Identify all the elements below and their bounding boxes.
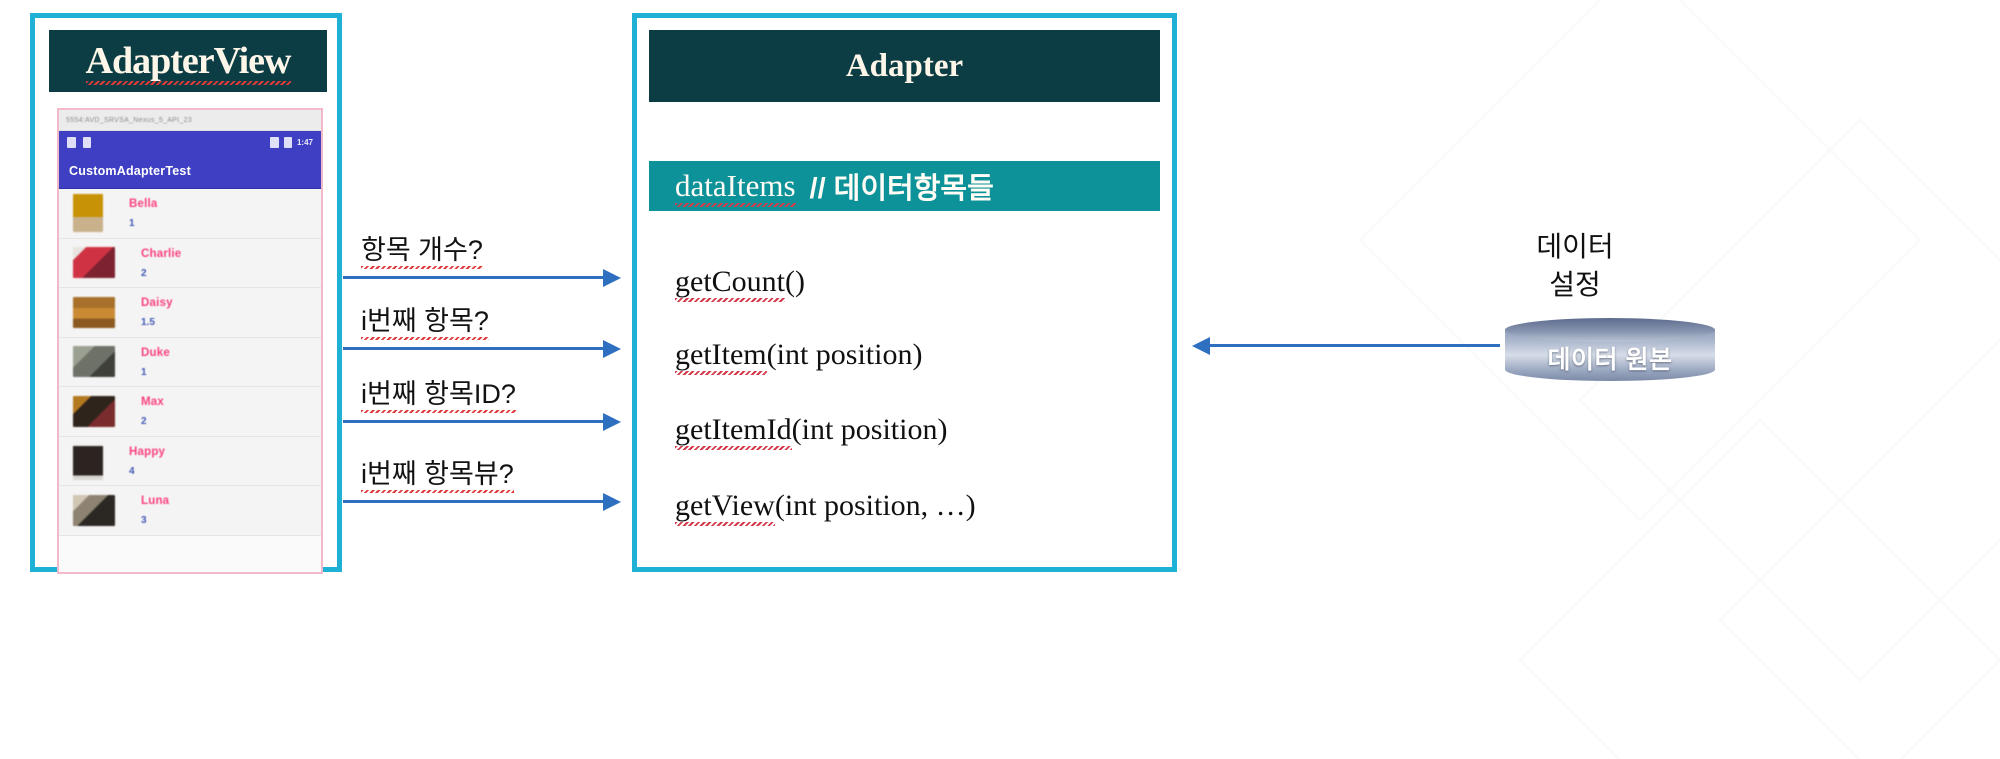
method-name: getItem	[675, 338, 767, 371]
list-item[interactable]: Bella 1	[59, 189, 321, 239]
adapter-title-text: Adapter	[846, 48, 963, 85]
dataitems-name: dataItems	[675, 168, 796, 204]
list-item-name: Max	[141, 395, 164, 409]
list-item-text: Duke 1	[141, 346, 170, 378]
battery-icon	[284, 137, 292, 148]
adapterview-title: AdapterView	[49, 30, 327, 92]
arrow-head-icon	[603, 340, 621, 358]
list-item-name: Duke	[141, 346, 170, 360]
app-bar: CustomAdapterTest	[59, 154, 321, 189]
emulator-window-title: 5554:AVD_SRVSA_Nexus_5_API_23	[66, 117, 192, 124]
list-item-value: 4	[129, 466, 165, 477]
list-item-value: 1	[141, 367, 170, 378]
dataitems-field: dataItems // 데이터항목들	[649, 161, 1160, 211]
clipboard-icon	[83, 137, 91, 148]
list-item-name: Daisy	[141, 296, 173, 310]
method-name: getItemId	[675, 413, 792, 446]
adapterview-title-text: AdapterView	[86, 39, 291, 83]
list-item-value: 3	[141, 515, 169, 526]
list-item-value: 2	[141, 268, 181, 279]
method-get-count: getCount()	[675, 265, 805, 299]
cylinder-top-ellipse	[1505, 318, 1715, 342]
android-status-bar: 1:47	[59, 131, 321, 154]
pet-thumbnail	[73, 247, 115, 278]
pet-thumbnail	[73, 442, 103, 480]
list-item-value: 1	[129, 218, 158, 229]
arrow-line	[343, 276, 608, 279]
method-get-item-id: getItemId(int position)	[675, 413, 947, 447]
cylinder-label: 데이터 원본	[1505, 340, 1715, 376]
method-name: getView	[675, 489, 775, 522]
list-item-text: Happy 4	[129, 445, 165, 477]
arrow-label: 항목 개수?	[361, 228, 483, 267]
list-item-name: Luna	[141, 494, 169, 508]
method-signature: (int position)	[767, 338, 923, 371]
arrow-label: i번째 항목?	[361, 299, 489, 338]
adapterview-panel: AdapterView 5554:AVD_SRVSA_Nexus_5_API_2…	[30, 13, 342, 572]
adapter-title: Adapter	[649, 30, 1160, 102]
adapter-panel: Adapter dataItems // 데이터항목들 getCount() g…	[632, 13, 1177, 572]
app-bar-title: CustomAdapterTest	[69, 164, 191, 178]
list-item-value: 2	[141, 416, 164, 427]
list-item[interactable]: Charlie 2	[59, 239, 321, 289]
method-signature: ()	[785, 265, 805, 298]
datasource-arrow-line	[1210, 344, 1500, 347]
list-item-text: Max 2	[141, 395, 164, 427]
arrow-head-icon	[603, 269, 621, 287]
list-item-text: Daisy 1.5	[141, 296, 173, 328]
list-item[interactable]: Luna 3	[59, 486, 321, 536]
method-signature: (int position, …)	[775, 489, 976, 522]
list-item-name: Bella	[129, 197, 158, 211]
list-item[interactable]: Happy 4	[59, 437, 321, 487]
data-source-cylinder: 데이터 원본	[1505, 318, 1715, 390]
pet-thumbnail	[73, 495, 115, 526]
arrow-line	[343, 420, 608, 423]
list-item-name: Happy	[129, 445, 165, 459]
method-get-view: getView(int position, …)	[675, 489, 976, 523]
pet-thumbnail	[73, 194, 103, 232]
list-item[interactable]: Daisy 1.5	[59, 288, 321, 338]
data-setting-line1: 데이터	[1495, 228, 1655, 266]
data-setting-line2: 설정	[1495, 266, 1655, 304]
data-setting-label: 데이터 설정	[1495, 228, 1655, 304]
pet-thumbnail	[73, 396, 115, 427]
list-item-text: Bella 1	[129, 197, 158, 229]
list-item-name: Charlie	[141, 247, 181, 261]
arrow-label: i번째 항목뷰?	[361, 452, 514, 491]
list-item[interactable]: Duke 1	[59, 338, 321, 388]
arrow-label: i번째 항목ID?	[361, 372, 516, 411]
pet-thumbnail	[73, 346, 115, 377]
status-right-icons: 1:47	[270, 137, 313, 148]
arrow-head-icon	[603, 413, 621, 431]
list-item-value: 1.5	[141, 317, 173, 328]
arrow-line	[343, 500, 608, 503]
arrow-head-icon	[603, 493, 621, 511]
list-item-text: Luna 3	[141, 494, 169, 526]
pet-thumbnail	[73, 297, 115, 328]
screenshot-icon	[67, 137, 76, 148]
android-emulator-window: 5554:AVD_SRVSA_Nexus_5_API_23 1:47 Custo…	[57, 108, 323, 574]
list-item[interactable]: Max 2	[59, 387, 321, 437]
status-left-icons	[67, 137, 91, 148]
dataitems-comment: // 데이터항목들	[810, 165, 994, 207]
datasource-arrow-head-icon	[1192, 337, 1210, 355]
arrow-line	[343, 347, 608, 350]
emulator-title-bar: 5554:AVD_SRVSA_Nexus_5_API_23	[59, 110, 321, 131]
method-signature: (int position)	[792, 413, 948, 446]
list-view[interactable]: Bella 1 Charlie 2 Daisy 1.5	[59, 189, 321, 536]
status-clock: 1:47	[297, 138, 313, 147]
wifi-icon	[270, 137, 279, 148]
method-get-item: getItem(int position)	[675, 338, 922, 372]
list-item-text: Charlie 2	[141, 247, 181, 279]
method-name: getCount	[675, 265, 785, 298]
